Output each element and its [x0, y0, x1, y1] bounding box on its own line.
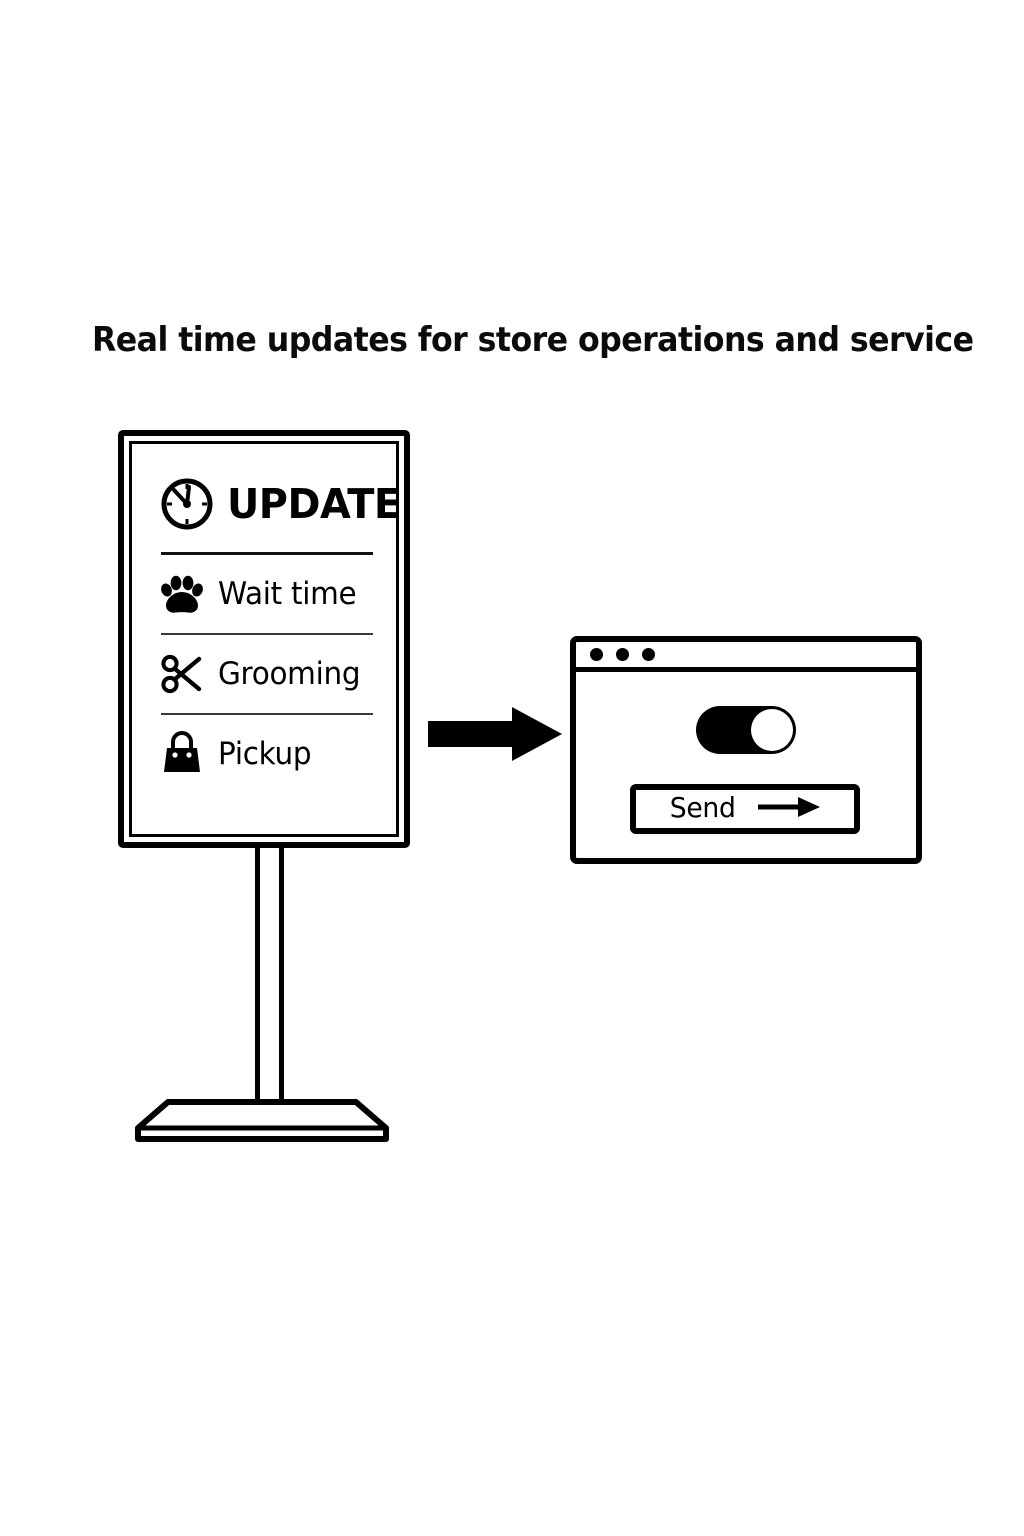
sign-row-label: Grooming	[218, 659, 360, 690]
window-dot-2[interactable]	[616, 648, 629, 661]
sign-board: UPDATE Wait time	[118, 430, 410, 848]
sign-row-pickup[interactable]: Pickup	[159, 715, 375, 793]
sign-base	[132, 1098, 392, 1144]
sign-content: UPDATE Wait time	[159, 462, 375, 824]
paw-print-icon	[159, 571, 205, 617]
sign-board-inner-frame: UPDATE Wait time	[129, 441, 399, 837]
notifications-toggle[interactable]	[696, 706, 796, 754]
sign-post	[255, 840, 284, 1110]
sign-row-wait-time[interactable]: Wait time	[159, 555, 375, 633]
clock-icon	[159, 476, 215, 532]
flow-arrow	[426, 705, 566, 763]
sign-row-label: Pickup	[218, 739, 311, 770]
update-title: UPDATE	[227, 484, 401, 525]
toggle-knob	[751, 709, 793, 751]
browser-titlebar	[576, 642, 916, 672]
sign-stand-illustration: UPDATE Wait time	[118, 430, 418, 1150]
window-dot-1[interactable]	[590, 648, 603, 661]
browser-body: Send	[576, 672, 916, 888]
right-arrow-icon	[426, 705, 566, 763]
page-title: Real time updates for store operations a…	[92, 320, 892, 360]
sign-row-label: Wait time	[218, 579, 356, 610]
arrow-right-icon	[756, 795, 822, 824]
browser-window: Send	[570, 636, 922, 864]
sign-base-shape	[132, 1098, 392, 1144]
send-button-label: Send	[670, 794, 736, 822]
shopping-bag-icon	[159, 731, 205, 777]
send-button[interactable]: Send	[630, 784, 860, 834]
window-dot-3[interactable]	[642, 648, 655, 661]
scissors-icon	[159, 651, 205, 697]
sign-header: UPDATE	[159, 462, 375, 546]
sign-row-grooming[interactable]: Grooming	[159, 635, 375, 713]
